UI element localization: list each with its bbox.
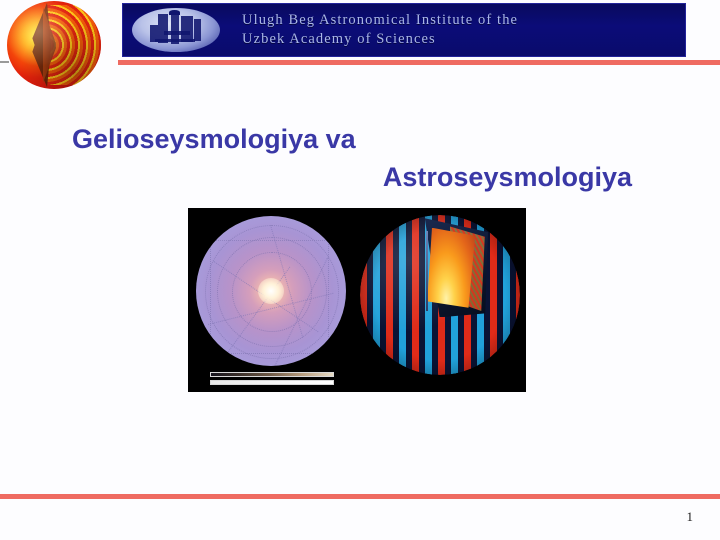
colorbar-grey (210, 380, 334, 385)
footer-accent-rule (0, 494, 720, 499)
institute-header-banner: Ulugh Beg Astronomical Institute of the … (122, 3, 686, 57)
helioseismology-two-panel-figure (188, 208, 526, 392)
slide-title-line-1: Gelioseysmologiya va (72, 120, 632, 158)
colorbar-temperature (210, 372, 334, 377)
header-accent-rule (118, 60, 720, 65)
ulugh-beg-observatory-emblem (132, 8, 220, 52)
left-edge-tick-mark (0, 61, 9, 63)
logo-shading-overlay (7, 1, 101, 89)
emblem-building-part (164, 31, 190, 35)
ray-path-sphere (196, 216, 346, 366)
slide-title: Gelioseysmologiya va Astroseysmologiya (72, 120, 632, 196)
sun-ray-path-diagram (188, 208, 354, 392)
glowing-core-wedge (427, 228, 475, 308)
solar-core-glow (258, 278, 284, 304)
cutaway-edge-line (426, 231, 428, 311)
presentation-slide: Ulugh Beg Astronomical Institute of the … (0, 0, 720, 540)
institute-name-text: Ulugh Beg Astronomical Institute of the … (242, 11, 518, 49)
solar-interior-sphere-logo (7, 1, 101, 89)
logo-sphere-body (7, 1, 101, 89)
page-number: 1 (687, 509, 694, 525)
slide-title-line-2: Astroseysmologiya (72, 158, 632, 196)
emblem-oval-background (132, 8, 220, 52)
mode-sphere-body (360, 215, 520, 375)
emblem-building-part (155, 39, 195, 43)
oscillation-mode-sphere (354, 208, 526, 392)
